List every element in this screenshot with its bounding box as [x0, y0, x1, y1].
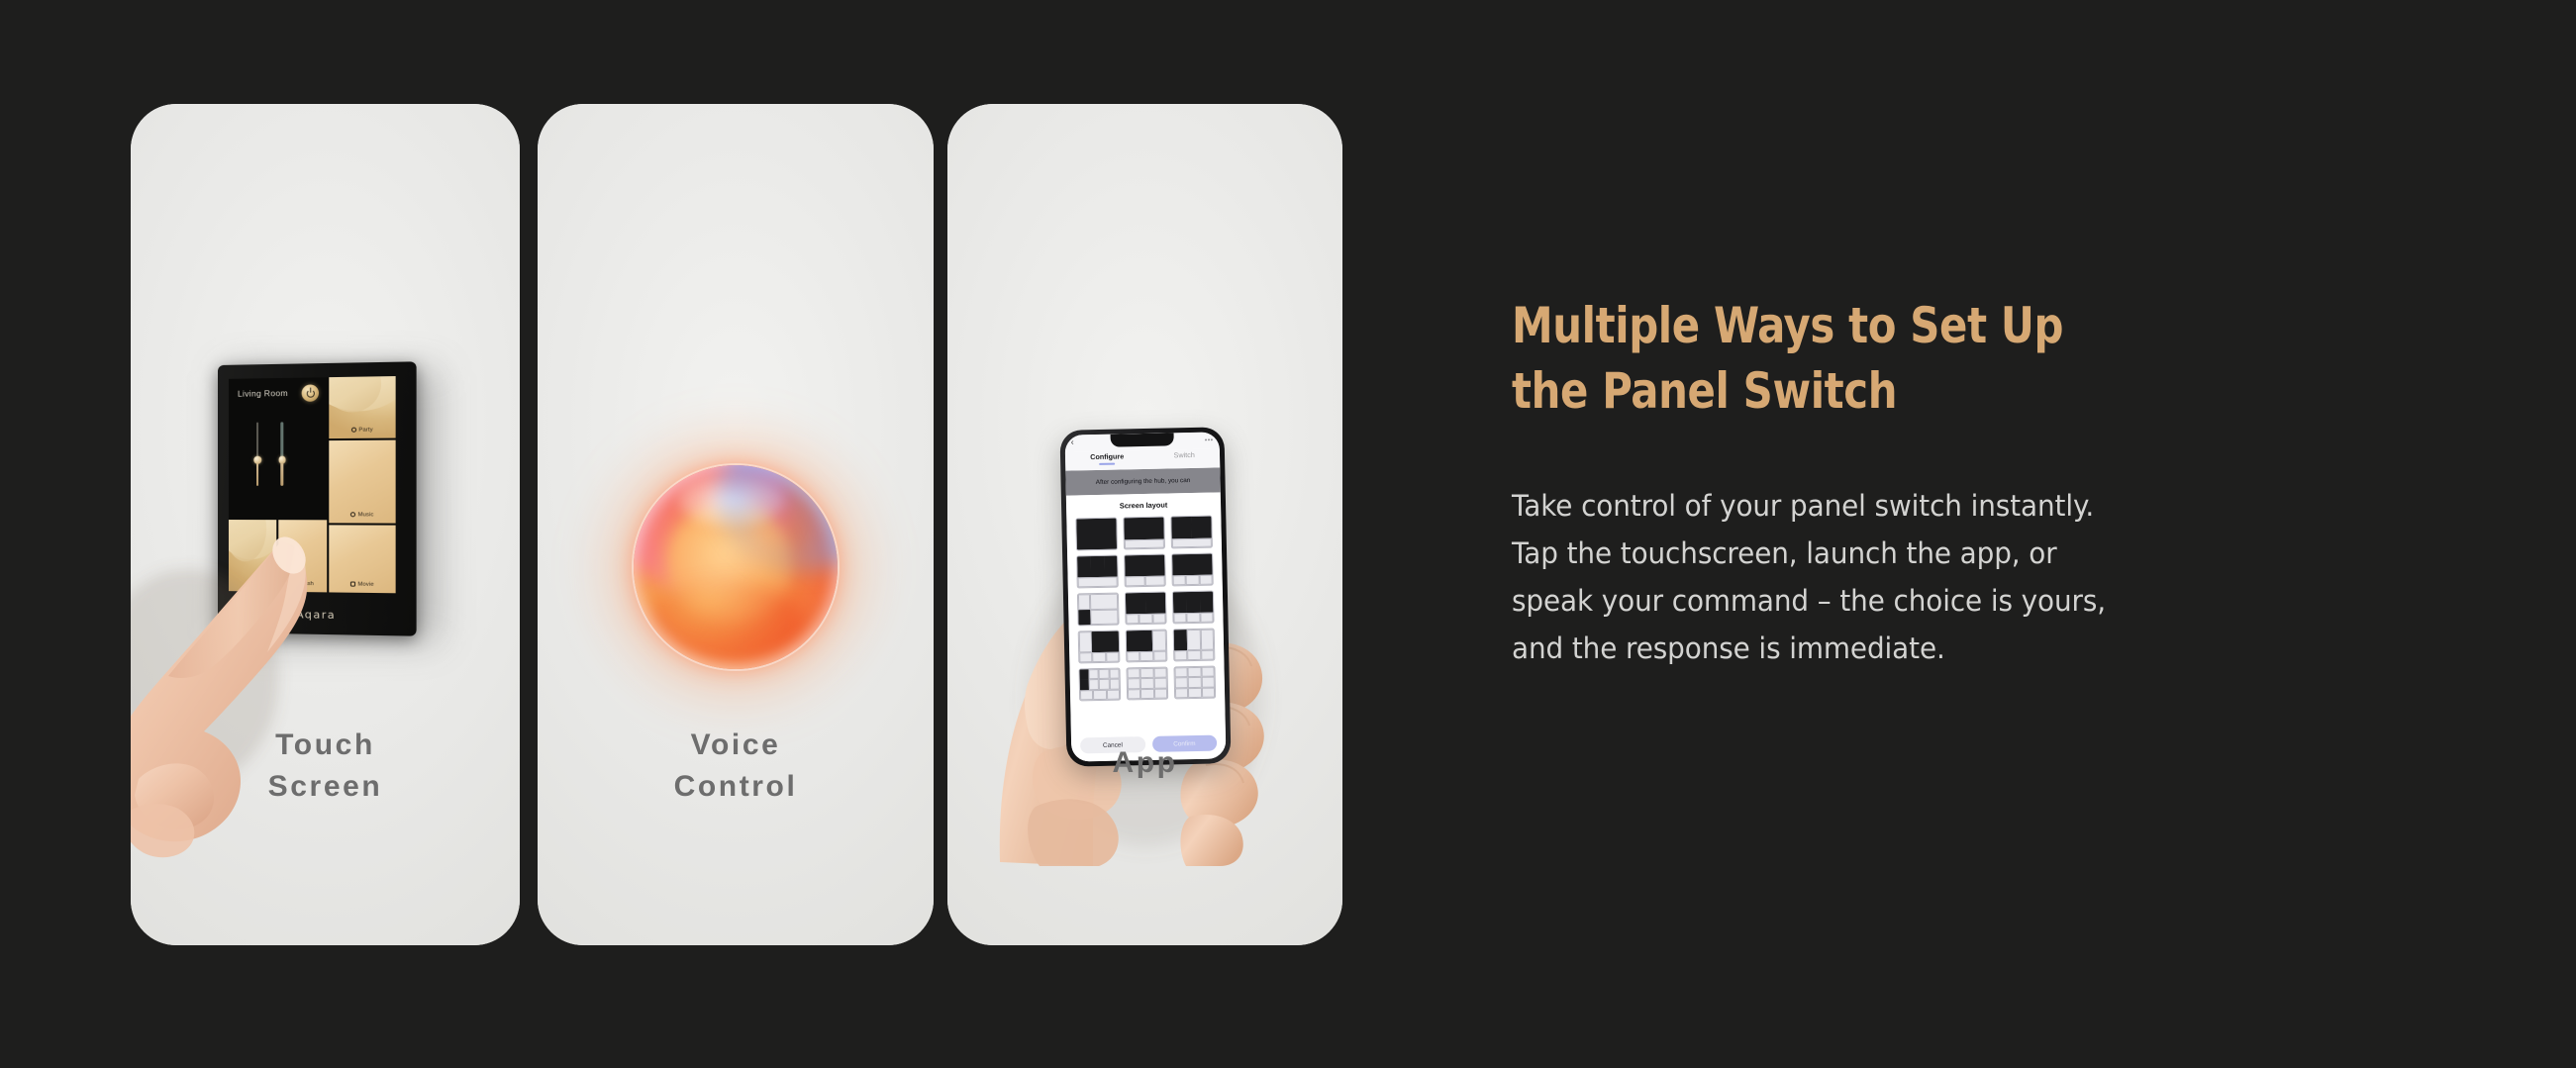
- layout-option[interactable]: [1075, 518, 1118, 551]
- panel-screen: Living Room: [229, 376, 396, 593]
- body-line-2: Tap the touchscreen, launch the app, or: [1512, 531, 2253, 578]
- tab-configure[interactable]: Configure: [1090, 451, 1124, 464]
- phone-tab-bar: Configure Switch: [1064, 448, 1219, 470]
- layout-option[interactable]: [1077, 631, 1120, 664]
- panel-header: Living Room: [229, 377, 328, 496]
- phone-screen: ‹ ••• Configure Switch After configuring…: [1064, 432, 1226, 761]
- layout-option[interactable]: [1126, 667, 1168, 701]
- panel-bottom-tiles: Wash: [229, 520, 328, 592]
- page-title: Multiple Ways to Set Up the Panel Switch: [1512, 293, 2229, 424]
- sheet-title: Screen layout: [1074, 500, 1211, 512]
- panel-tile-decor[interactable]: [229, 520, 276, 592]
- power-icon[interactable]: [302, 384, 319, 401]
- tile-label-row: Party: [330, 427, 396, 434]
- feature-card-voice-control[interactable]: Voice Control: [538, 104, 934, 945]
- promo-copy-block: Multiple Ways to Set Up the Panel Switch…: [1512, 293, 2284, 672]
- chevron-left-icon[interactable]: ‹: [1070, 437, 1073, 446]
- slider-track-top: [256, 423, 258, 460]
- title-line-2: the Panel Switch: [1512, 358, 2229, 424]
- label-line-2: Control: [538, 766, 934, 809]
- promo-stage: Living Room: [0, 0, 2576, 1068]
- tile-label: Movie: [357, 582, 373, 588]
- panel-tile-wash[interactable]: Wash: [278, 520, 327, 592]
- tab-switch[interactable]: Switch: [1173, 450, 1194, 462]
- movie-icon: [350, 582, 355, 587]
- slider-right[interactable]: [281, 422, 283, 486]
- layout-option[interactable]: [1123, 517, 1165, 550]
- tile-label-row: Music: [330, 512, 396, 518]
- panel-body: Living Room: [218, 361, 417, 635]
- tile-label-row: Movie: [330, 581, 396, 588]
- layout-option[interactable]: [1171, 553, 1214, 587]
- layout-option[interactable]: [1173, 666, 1216, 700]
- panel-screen-right: Party Music: [330, 376, 396, 593]
- screen-layout-options: [1075, 516, 1216, 702]
- tile-label: Music: [358, 512, 374, 518]
- layout-option[interactable]: [1076, 555, 1119, 589]
- card-label-app: App: [947, 742, 1342, 785]
- body-line-1: Take control of your panel switch instan…: [1512, 483, 2253, 531]
- phone-banner-text: After configuring the hub, you can: [1065, 467, 1220, 495]
- layout-option[interactable]: [1172, 629, 1215, 662]
- power-glyph: [307, 389, 315, 397]
- tile-label: Party: [358, 427, 372, 433]
- music-icon: [350, 513, 355, 518]
- panel-sliders: [256, 422, 283, 486]
- body-line-4: and the response is immediate.: [1512, 626, 2253, 673]
- slider-knob[interactable]: [278, 456, 286, 464]
- feature-card-row: Living Room: [131, 104, 1342, 945]
- label-line-1: Voice: [538, 725, 934, 767]
- layout-option[interactable]: [1078, 668, 1121, 702]
- orb-sphere: [634, 465, 838, 669]
- wash-icon: [292, 581, 297, 586]
- label-line-1: Touch: [131, 725, 520, 767]
- tile-label-row: Wash: [278, 581, 327, 588]
- feature-card-touch-screen[interactable]: Living Room: [131, 104, 520, 945]
- tile-label: Wash: [299, 581, 314, 587]
- layout-option[interactable]: [1124, 554, 1166, 588]
- feature-card-app[interactable]: ‹ ••• Configure Switch After configuring…: [947, 104, 1342, 945]
- page-description: Take control of your panel switch instan…: [1512, 483, 2253, 672]
- phone-notch: [1110, 433, 1173, 446]
- card-label-voice-control: Voice Control: [538, 725, 934, 809]
- label-line-2: Screen: [131, 766, 520, 809]
- smartphone-mockup: ‹ ••• Configure Switch After configuring…: [1059, 427, 1231, 766]
- layout-option[interactable]: [1124, 592, 1166, 626]
- voice-assistant-orb: [587, 419, 884, 716]
- body-line-3: speak your command – the choice is yours…: [1512, 578, 2253, 626]
- layout-option[interactable]: [1171, 591, 1214, 625]
- layout-option[interactable]: [1076, 593, 1119, 627]
- slider-knob[interactable]: [253, 456, 261, 464]
- card-label-touch-screen: Touch Screen: [131, 725, 520, 809]
- party-icon: [351, 428, 356, 433]
- panel-screen-left: Living Room: [229, 377, 328, 592]
- phone-body: ‹ ••• Configure Switch After configuring…: [1059, 427, 1231, 766]
- panel-tile-movie[interactable]: Movie: [330, 525, 396, 593]
- ellipsis-icon[interactable]: •••: [1204, 437, 1213, 444]
- slider-track-top: [281, 422, 283, 459]
- slider-left[interactable]: [256, 423, 258, 486]
- panel-tile-music[interactable]: Music: [330, 439, 396, 523]
- layout-option[interactable]: [1125, 630, 1167, 663]
- orb-rim-light: [634, 465, 838, 669]
- label-line-1: App: [947, 742, 1342, 785]
- layout-option[interactable]: [1170, 516, 1213, 549]
- panel-tile-party[interactable]: Party: [330, 376, 396, 438]
- panel-brand-logo: Aqara: [218, 607, 417, 623]
- screen-layout-sheet: Screen layout: [1065, 492, 1226, 761]
- aqara-panel-switch: Living Room: [218, 353, 438, 640]
- title-line-1: Multiple Ways to Set Up: [1512, 293, 2229, 358]
